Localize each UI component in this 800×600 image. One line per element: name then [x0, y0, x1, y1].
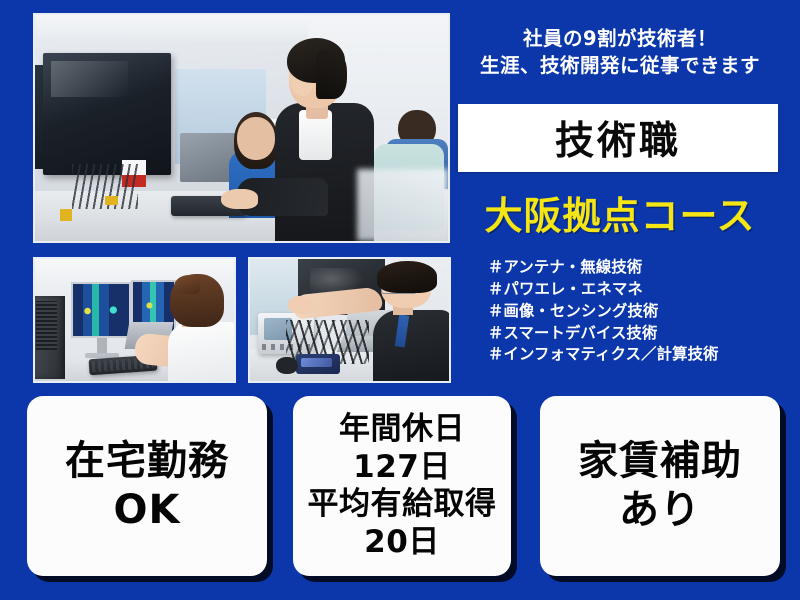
tag-item-4: ＃インフォマティクス／計算技術	[488, 344, 788, 366]
tag-item-2: ＃画像・センシング技術	[488, 301, 788, 323]
benefit-card-housing-allowance: 家賃補助 あり	[540, 396, 780, 576]
benefit-card-holidays-label: 年間休日 127日 平均有給取得 20日	[308, 411, 497, 561]
course-title: 大阪拠点コース	[455, 185, 785, 240]
job-category-box: 技術職	[458, 104, 778, 172]
poster-canvas: 社員の9割が技術者！ 生涯、技術開発に従事できます 技術職 大阪拠点コース ＃ア…	[0, 0, 800, 600]
tag-item-3: ＃スマートデバイス技術	[488, 323, 788, 345]
benefit-card-holidays: 年間休日 127日 平均有給取得 20日	[293, 396, 511, 576]
lead-headline: 社員の9割が技術者！ 生涯、技術開発に従事できます	[455, 26, 785, 80]
tag-list: ＃アンテナ・無線技術 ＃パワエレ・エネマネ ＃画像・センシング技術 ＃スマートデ…	[488, 257, 788, 366]
benefit-card-housing-allowance-label: 家賃補助 あり	[578, 437, 742, 535]
photo-simulation-analysis	[33, 257, 236, 383]
photo-measurement-lab	[248, 257, 451, 383]
benefit-card-remote-work: 在宅勤務 OK	[27, 396, 267, 576]
tag-item-0: ＃アンテナ・無線技術	[488, 257, 788, 279]
photo-office-engineer	[33, 13, 450, 243]
tag-item-1: ＃パワエレ・エネマネ	[488, 279, 788, 301]
benefit-card-remote-work-label: 在宅勤務 OK	[65, 437, 229, 535]
job-category-label: 技術職	[555, 110, 681, 166]
